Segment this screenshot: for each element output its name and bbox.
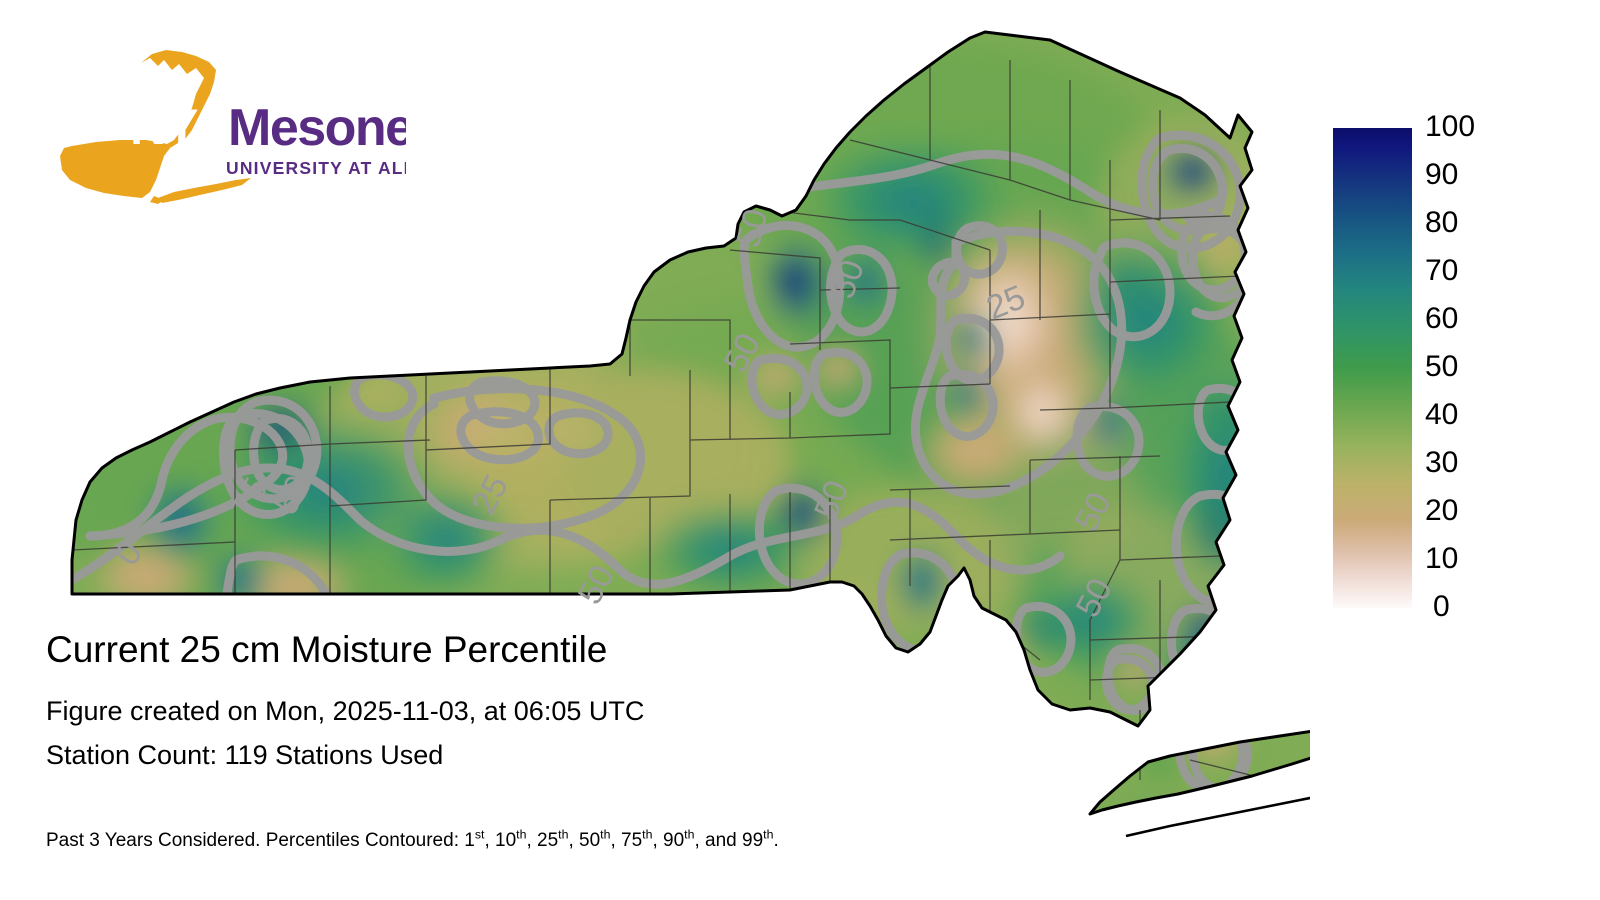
footnote-level-50: 50th <box>579 830 610 851</box>
colorbar-tick-20: 20 <box>1425 496 1458 526</box>
colorbar-tick-60: 60 <box>1425 304 1458 334</box>
contour-levels-footnote: Past 3 Years Considered. Percentiles Con… <box>46 828 779 854</box>
colorbar-gradient <box>1333 128 1412 608</box>
colorbar-tick-80: 80 <box>1425 208 1458 238</box>
footnote-level-75: 75th <box>621 830 652 851</box>
colorbar-tick-100: 100 <box>1425 112 1475 142</box>
station-count-line: Station Count: 119 Stations Used <box>46 738 1046 772</box>
footnote-level-1: 1st <box>464 830 484 851</box>
percentile-colorbar: 100 90 80 70 60 50 40 30 20 10 0 <box>1333 128 1573 608</box>
figure-canvas: NYS Mesonet UNIVERSITY AT ALBANY <box>0 0 1600 900</box>
colorbar-tick-0: 0 <box>1433 592 1450 622</box>
colorbar-tick-70: 70 <box>1425 256 1458 286</box>
colorbar-tick-40: 40 <box>1425 400 1458 430</box>
colorbar-tick-30: 30 <box>1425 448 1458 478</box>
footnote-level-99: and 99th <box>705 830 773 851</box>
page-title: Current 25 cm Moisture Percentile <box>46 628 1046 672</box>
figure-created-line: Figure created on Mon, 2025-11-03, at 06… <box>46 694 1046 728</box>
colorbar-tick-10: 10 <box>1425 544 1458 574</box>
footnote-level-90: 90th <box>663 830 694 851</box>
footnote-level-10: 10th <box>495 830 526 851</box>
colorbar-tick-50: 50 <box>1425 352 1458 382</box>
caption-block: Current 25 cm Moisture Percentile Figure… <box>46 628 1046 782</box>
colorbar-tick-90: 90 <box>1425 160 1458 190</box>
footnote-level-25: 25th <box>537 830 568 851</box>
